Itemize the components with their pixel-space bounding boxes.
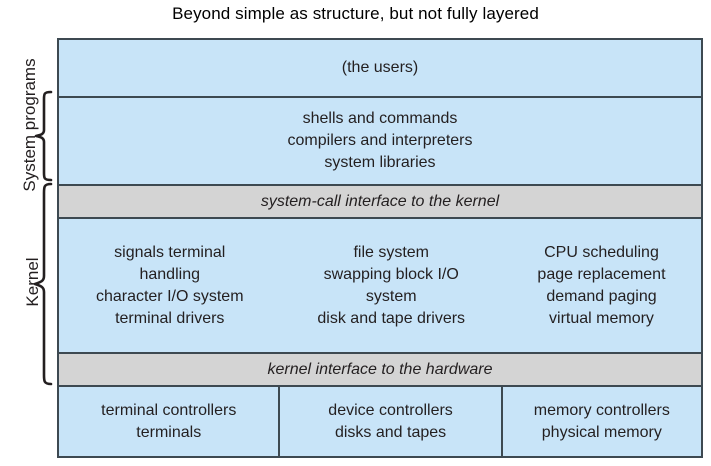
kernel-column-3: CPU scheduling page replacement demand p… xyxy=(502,242,701,330)
layer-system-call-interface-label: system-call interface to the kernel xyxy=(261,193,499,211)
layer-system-call-interface: system-call interface to the kernel xyxy=(59,186,701,219)
os-structure-diagram: (the users) shells and commands compiler… xyxy=(57,38,703,458)
layer-system-programs-label: shells and commands compilers and interp… xyxy=(288,108,473,174)
layer-kernel: signals terminal handling character I/O … xyxy=(59,219,701,354)
layer-hardware: terminal controllers terminals device co… xyxy=(59,387,701,456)
layer-kernel-hardware-interface-label: kernel interface to the hardware xyxy=(267,361,492,379)
layer-users: (the users) xyxy=(59,40,701,98)
layer-users-label: (the users) xyxy=(342,59,418,77)
hardware-column-2: device controllers disks and tapes xyxy=(280,387,502,456)
kernel-column-2: file system swapping block I/O system di… xyxy=(280,242,501,330)
hardware-column-3: memory controllers physical memory xyxy=(503,387,701,456)
hardware-column-1: terminal controllers terminals xyxy=(59,387,280,456)
brace-system-programs xyxy=(32,90,54,187)
diagram-title: Beyond simple as structure, but not full… xyxy=(0,3,711,25)
layer-system-programs: shells and commands compilers and interp… xyxy=(59,98,701,186)
brace-kernel xyxy=(30,182,54,391)
kernel-column-1: signals terminal handling character I/O … xyxy=(59,242,280,330)
layer-kernel-hardware-interface: kernel interface to the hardware xyxy=(59,354,701,387)
